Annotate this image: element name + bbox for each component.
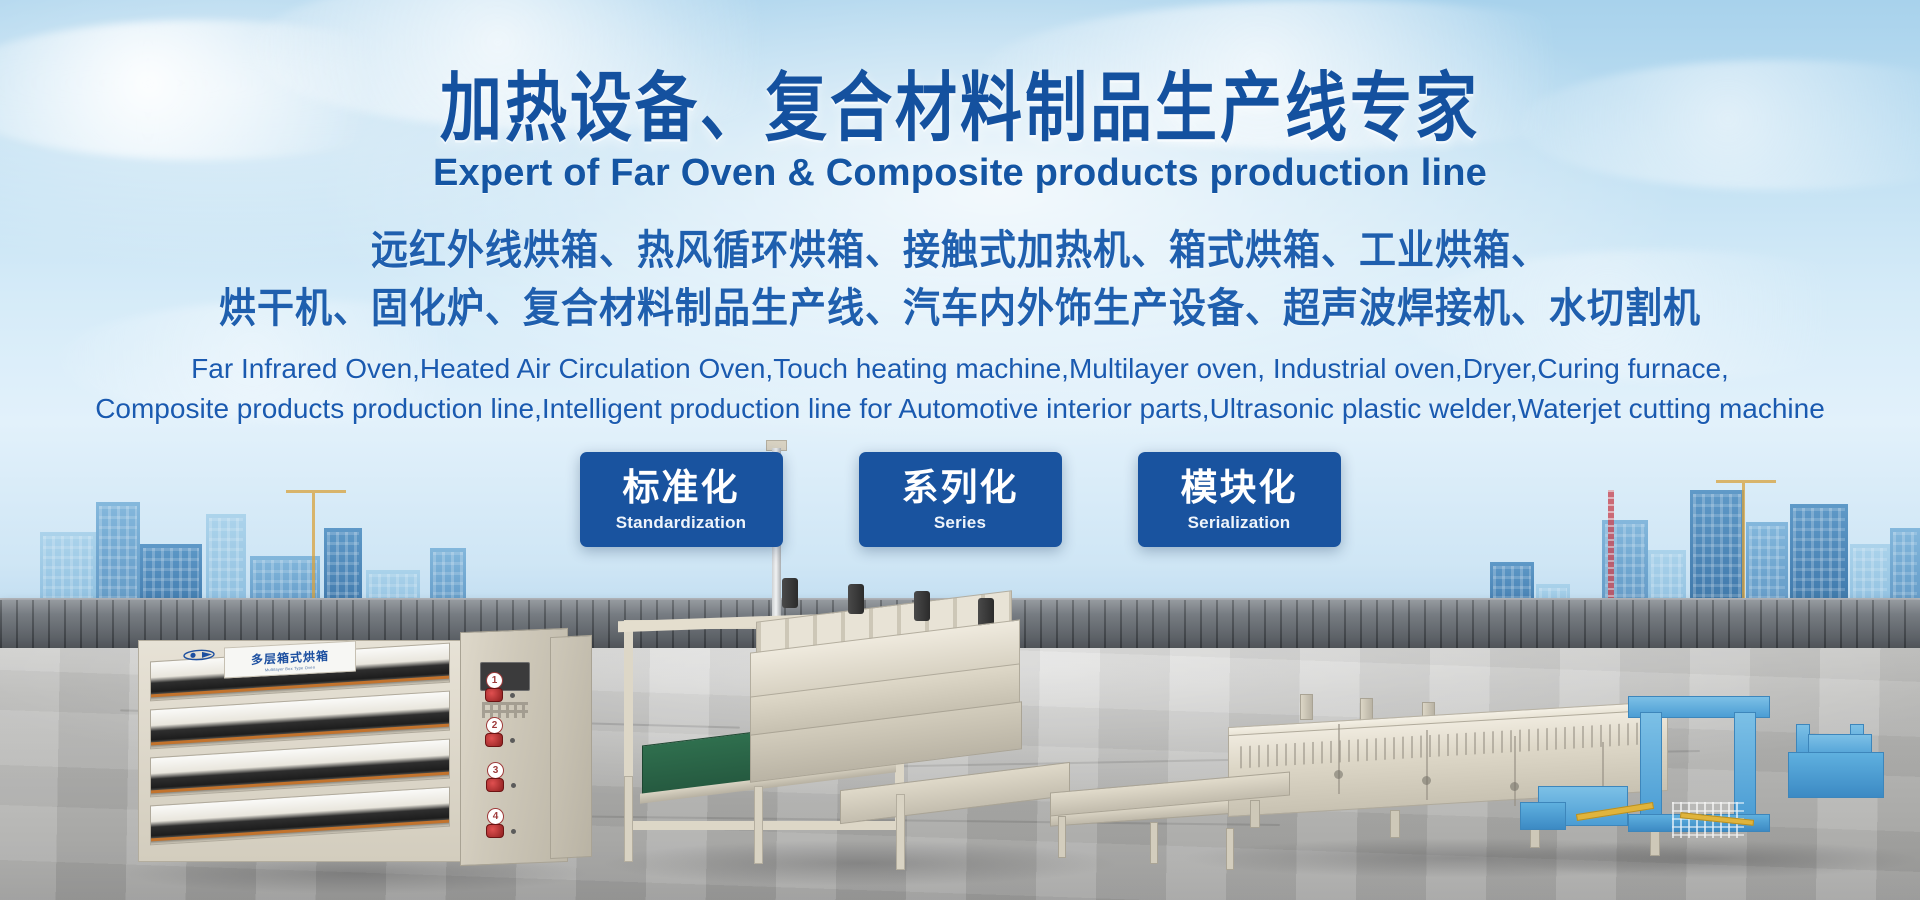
press-leg — [624, 776, 633, 862]
oven-control-knob-3[interactable]: 3 — [485, 764, 519, 798]
badge-serialization[interactable]: 模块化 Serialization — [1138, 452, 1341, 547]
headline-english: Expert of Far Oven & Composite products … — [0, 154, 1920, 194]
product-list-english-line-2: Composite products production line,Intel… — [0, 389, 1920, 429]
badge-label-chinese: 模块化 — [1172, 468, 1307, 508]
tunnel-door-handle-icon — [1334, 770, 1343, 779]
headline-chinese: 加热设备、复合材料制品生产线专家 — [0, 72, 1920, 148]
oven-nameplate-title: 多层箱式烘箱 — [251, 646, 329, 667]
auxiliary-unit — [1520, 802, 1566, 830]
knob-dial-icon — [486, 824, 504, 838]
knob-dial-icon — [485, 688, 503, 702]
tunnel-support-leg — [1250, 800, 1260, 828]
multilayer-oven-machine: 多层箱式烘箱 Multilayer Box Type Oven 1 2 3 4 — [138, 622, 558, 872]
tunnel-door-handle-icon — [1510, 782, 1519, 791]
oven-rear-cabinet — [550, 635, 592, 859]
oven-control-knob-2[interactable]: 2 — [484, 719, 518, 753]
product-list-chinese-line-1: 远红外线烘箱、热风循环烘箱、接触式加热机、箱式烘箱、工业烘箱、 — [0, 222, 1920, 280]
product-list-chinese-line-2: 烘干机、固化炉、复合材料制品生产线、汽车内外饰生产设备、超声波焊接机、水切割机 — [0, 280, 1920, 338]
badge-label-english: Series — [893, 513, 1028, 533]
product-list-english-line-1: Far Infrared Oven,Heated Air Circulation… — [0, 349, 1920, 389]
conveyor-leg — [1058, 816, 1066, 858]
knob-indicator-icon — [511, 829, 516, 834]
knob-indicator-icon — [510, 693, 515, 698]
press-cylinder-icon — [848, 584, 864, 614]
badge-series[interactable]: 系列化 Series — [859, 452, 1062, 547]
tunnel-door-handle-icon — [1422, 776, 1431, 785]
knob-indicator-icon — [510, 738, 515, 743]
brand-logo-icon — [182, 648, 216, 664]
banner-copy: 加热设备、复合材料制品生产线专家 Expert of Far Oven & Co… — [0, 0, 1920, 428]
product-list-english: Far Infrared Oven,Heated Air Circulation… — [0, 349, 1920, 429]
badge-label-chinese: 标准化 — [614, 468, 749, 508]
conveyor-leg — [1150, 822, 1158, 864]
press-table — [1788, 752, 1884, 798]
press-cylinder-icon — [782, 578, 798, 608]
badge-standardization[interactable]: 标准化 Standardization — [580, 452, 783, 547]
knob-number-label: 3 — [487, 762, 504, 779]
blue-automation-equipment — [1520, 690, 1920, 890]
knob-number-label: 4 — [487, 808, 504, 825]
knob-indicator-icon — [511, 783, 516, 788]
oven-control-knob-4[interactable]: 4 — [485, 810, 519, 844]
knob-dial-icon — [485, 733, 503, 747]
feature-badge-group: 标准化 Standardization 系列化 Series 模块化 Seria… — [0, 452, 1920, 547]
badge-label-english: Standardization — [614, 513, 749, 533]
knob-number-label: 1 — [486, 672, 503, 689]
knob-dial-icon — [486, 778, 504, 792]
press-leg — [896, 794, 905, 870]
badge-label-english: Serialization — [1172, 513, 1307, 533]
press-leg — [754, 786, 763, 864]
press-cylinder-icon — [914, 591, 930, 621]
marketing-banner: 多层箱式烘箱 Multilayer Box Type Oven 1 2 3 4 — [0, 0, 1920, 900]
tunnel-exhaust-stack — [1300, 694, 1313, 720]
product-list-chinese: 远红外线烘箱、热风循环烘箱、接触式加热机、箱式烘箱、工业烘箱、 烘干机、固化炉、… — [0, 222, 1920, 338]
tunnel-support-leg — [1390, 810, 1400, 838]
badge-label-chinese: 系列化 — [893, 468, 1028, 508]
oven-control-knob-1[interactable]: 1 — [484, 674, 518, 708]
knob-number-label: 2 — [486, 717, 503, 734]
